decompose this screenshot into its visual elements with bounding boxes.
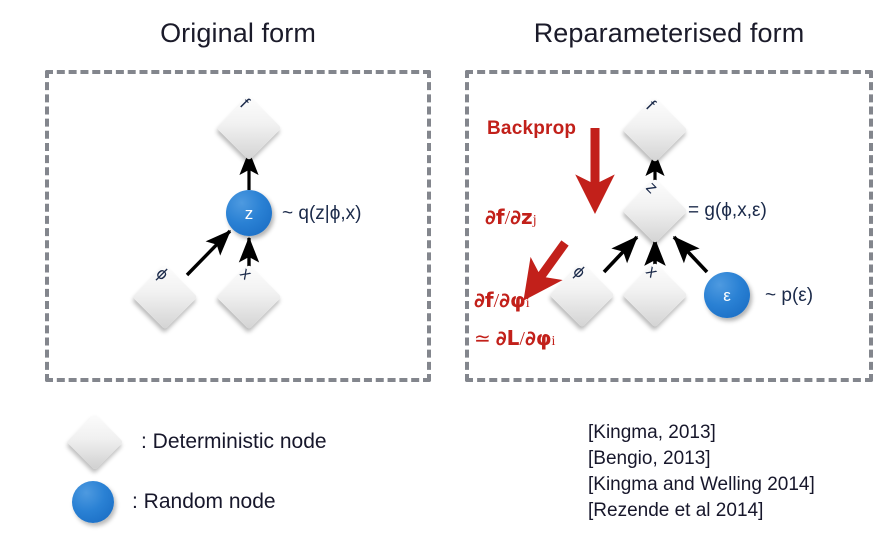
citation-list: [Kingma, 2013] [Bengio, 2013] [Kingma an… xyxy=(588,420,815,524)
node-z-original[interactable]: z xyxy=(226,190,272,236)
backprop-label: Backprop xyxy=(487,118,576,140)
diamond-shape: ϕ xyxy=(549,262,614,327)
node-f-original[interactable]: f xyxy=(226,105,272,151)
partial-phi-denominator: ∂φ xyxy=(525,326,552,350)
node-phi-reparameterised[interactable]: ϕ xyxy=(559,272,605,318)
legend-item-random: : Random node xyxy=(72,481,276,523)
diamond-shape: x xyxy=(216,264,281,329)
citation-item: [Kingma, 2013] xyxy=(588,420,815,446)
legend-label: : Random node xyxy=(132,490,276,514)
approx-symbol: ≃ xyxy=(474,328,491,350)
panel-title-original: Original form xyxy=(45,18,431,49)
partial-phi-denominator: ∂φ xyxy=(499,288,526,312)
node-x-reparameterised[interactable]: x xyxy=(632,272,678,318)
gradient-phi-label: ∂f/∂φi xyxy=(474,288,530,313)
node-label: z xyxy=(245,205,254,222)
phi-subscript: i xyxy=(551,334,555,349)
citation-item: [Rezende et al 2014] xyxy=(588,498,815,524)
phi-subscript: i xyxy=(526,296,530,311)
diamond-shape: f xyxy=(216,95,281,160)
node-x-original[interactable]: x xyxy=(226,274,272,320)
label-z-equation: = g(ϕ,x,ε) xyxy=(688,200,767,222)
diamond-shape: ϕ xyxy=(132,264,197,329)
partial-f-numerator: ∂f xyxy=(474,288,494,312)
slide-canvas: Original form f z ϕ xyxy=(0,0,896,534)
deterministic-node-icon xyxy=(67,414,124,471)
diamond-shape: f xyxy=(622,97,687,162)
node-epsilon-reparameterised[interactable]: ε xyxy=(704,272,750,318)
random-node-icon xyxy=(72,481,114,523)
diamond-shape: x xyxy=(622,262,687,327)
label-z-distribution: ~ q(z|ϕ,x) xyxy=(282,203,361,225)
legend-item-deterministic: : Deterministic node xyxy=(75,422,327,462)
label-epsilon-distribution: ~ p(ε) xyxy=(765,285,813,307)
gradient-phi-approx-label: ≃ ∂L/∂φi xyxy=(474,326,555,351)
partial-L-numerator: ∂L xyxy=(496,326,520,350)
circle-shape: z xyxy=(226,190,272,236)
citation-item: [Kingma and Welling 2014] xyxy=(588,472,815,498)
circle-shape: ε xyxy=(704,272,750,318)
z-subscript: j xyxy=(533,213,537,228)
node-z-reparameterised[interactable]: z xyxy=(632,188,678,234)
partial-z-denominator: ∂z xyxy=(510,205,533,229)
node-f-reparameterised[interactable]: f xyxy=(632,107,678,153)
panel-title-reparameterised: Reparameterised form xyxy=(465,18,873,49)
gradient-z-label: ∂f/∂zj xyxy=(485,205,537,230)
legend-label: : Deterministic node xyxy=(141,430,327,454)
node-label: ε xyxy=(723,287,731,304)
node-phi-original[interactable]: ϕ xyxy=(142,274,188,320)
diamond-shape: z xyxy=(622,178,687,243)
citation-item: [Bengio, 2013] xyxy=(588,446,815,472)
partial-f-numerator: ∂f xyxy=(485,205,505,229)
